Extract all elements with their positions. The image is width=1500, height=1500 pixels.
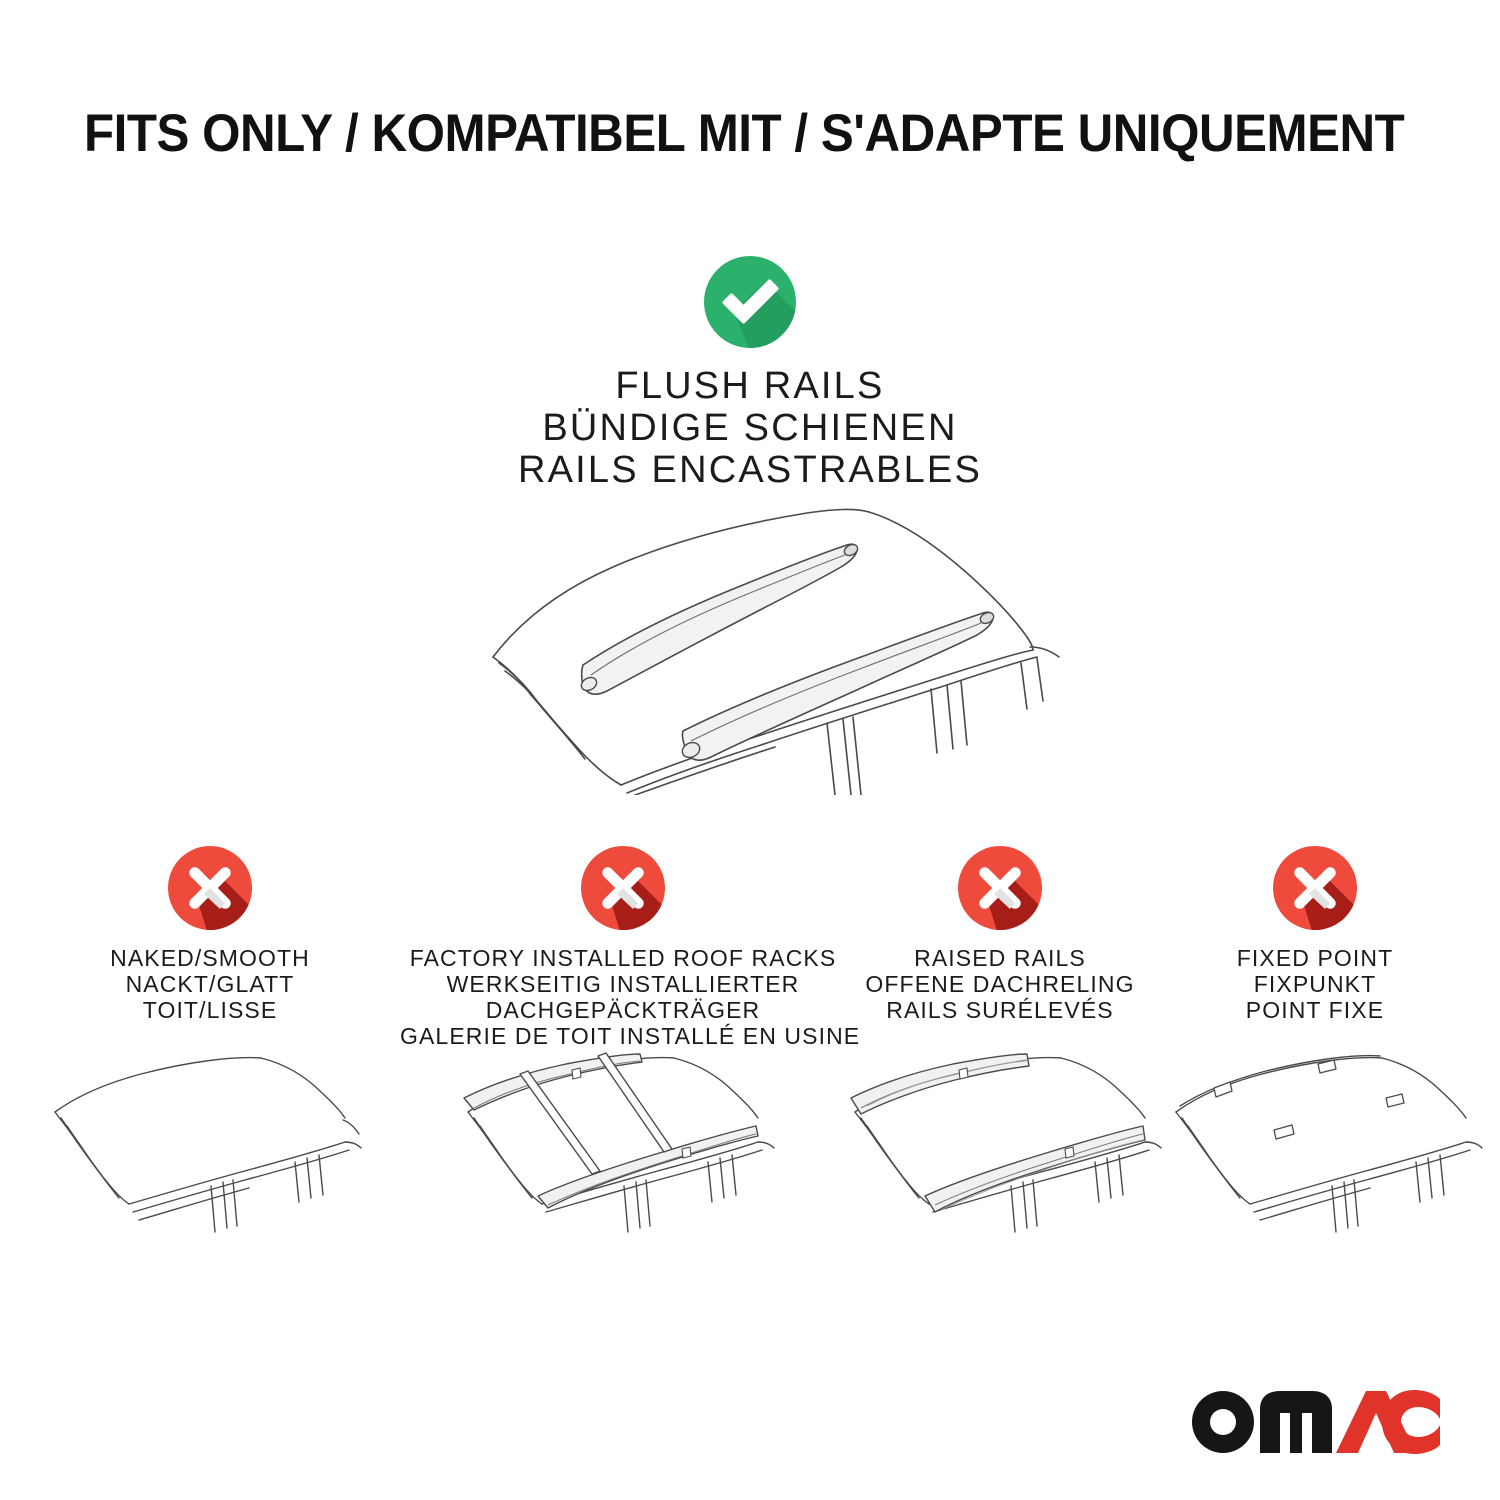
compatible-label-fr: RAILS ENCASTRABLES bbox=[0, 449, 1500, 491]
incompatible-item-fixed-point: FIXED POINT FIXPUNKT POINT FIXE bbox=[1155, 845, 1475, 1023]
incompatible-labels: FACTORY INSTALLED ROOF RACKS WERKSEITIG … bbox=[400, 945, 846, 1049]
incompatible-labels: FIXED POINT FIXPUNKT POINT FIXE bbox=[1155, 945, 1475, 1023]
label-line-1: FIXED POINT bbox=[1155, 945, 1475, 971]
label-line-3: POINT FIXE bbox=[1155, 997, 1475, 1023]
omac-logo bbox=[1190, 1393, 1440, 1455]
label-line-2: OFFENE DACHRELING bbox=[845, 971, 1155, 997]
check-circle-icon bbox=[703, 255, 797, 349]
label-line-3: DACHGEPÄCKTRÄGER bbox=[400, 997, 846, 1023]
car-roof-naked-smooth-illustration bbox=[37, 1050, 367, 1285]
label-line-3: RAILS SURÉLEVÉS bbox=[845, 997, 1155, 1023]
compatible-labels: FLUSH RAILS BÜNDIGE SCHIENEN RAILS ENCAS… bbox=[0, 365, 1500, 491]
incompatible-labels: NAKED/SMOOTH NACKT/GLATT TOIT/LISSE bbox=[20, 945, 400, 1023]
incompatible-item-naked-smooth: NAKED/SMOOTH NACKT/GLATT TOIT/LISSE bbox=[20, 845, 400, 1023]
incompatible-section: NAKED/SMOOTH NACKT/GLATT TOIT/LISSE bbox=[0, 845, 1500, 1315]
label-line-1: NAKED/SMOOTH bbox=[20, 945, 400, 971]
cross-circle-icon bbox=[1272, 845, 1358, 931]
label-line-1: FACTORY INSTALLED ROOF RACKS bbox=[400, 945, 846, 971]
incompatible-labels: RAISED RAILS OFFENE DACHRELING RAILS SUR… bbox=[845, 945, 1155, 1023]
page-title: FITS ONLY / KOMPATIBEL MIT / S'ADAPTE UN… bbox=[84, 103, 1330, 165]
compatible-section: FLUSH RAILS BÜNDIGE SCHIENEN RAILS ENCAS… bbox=[0, 255, 1500, 491]
car-roof-fixed-point-illustration bbox=[1158, 1050, 1488, 1285]
incompatible-item-factory-roof-racks: FACTORY INSTALLED ROOF RACKS WERKSEITIG … bbox=[400, 845, 846, 1049]
car-roof-flush-rails-illustration bbox=[455, 495, 1065, 795]
car-roof-raised-rails-illustration bbox=[837, 1050, 1167, 1285]
cross-circle-icon bbox=[957, 845, 1043, 931]
compatible-label-de: BÜNDIGE SCHIENEN bbox=[0, 407, 1500, 449]
label-line-2: NACKT/GLATT bbox=[20, 971, 400, 997]
cross-circle-icon bbox=[167, 845, 253, 931]
label-line-3: TOIT/LISSE bbox=[20, 997, 400, 1023]
compatible-label-en: FLUSH RAILS bbox=[0, 365, 1500, 407]
label-line-2: WERKSEITIG INSTALLIERTER bbox=[400, 971, 846, 997]
incompatible-item-raised-rails: RAISED RAILS OFFENE DACHRELING RAILS SUR… bbox=[845, 845, 1155, 1023]
cross-circle-icon bbox=[580, 845, 666, 931]
label-line-4: GALERIE DE TOIT INSTALLÉ EN USINE bbox=[400, 1023, 846, 1049]
label-line-2: FIXPUNKT bbox=[1155, 971, 1475, 997]
car-roof-factory-roof-racks-illustration bbox=[450, 1050, 780, 1285]
label-line-1: RAISED RAILS bbox=[845, 945, 1155, 971]
